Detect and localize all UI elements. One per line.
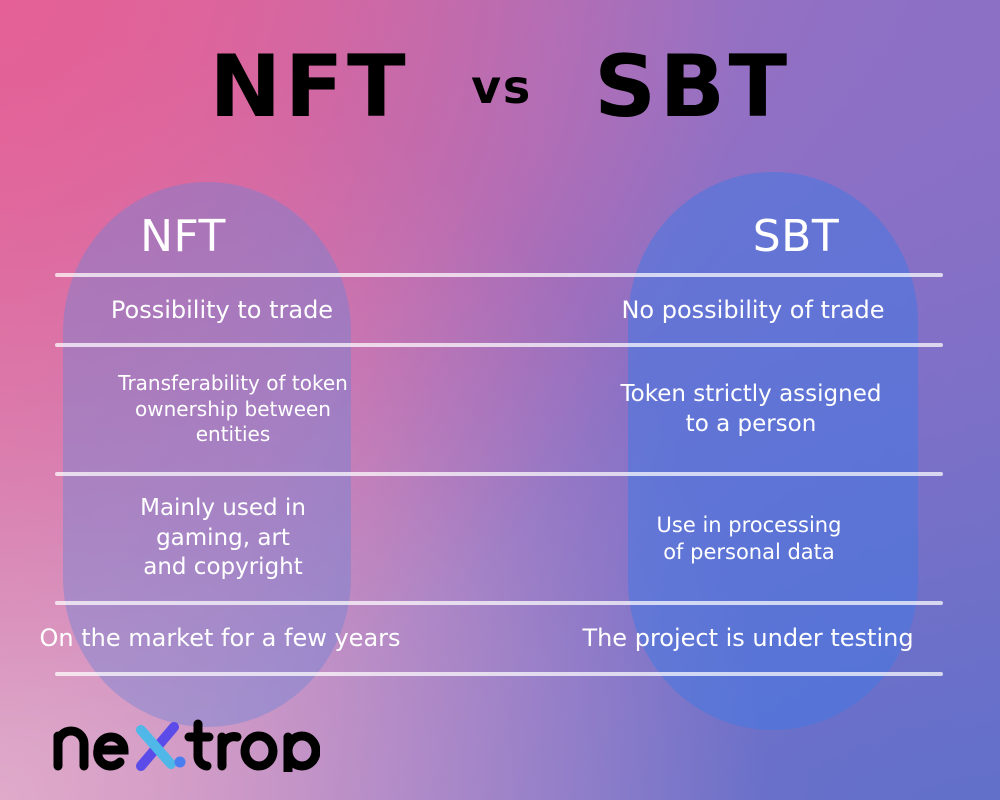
cell-nft-maturity: On the market for a few years <box>0 623 442 654</box>
table-header-row: NFT SBT <box>55 200 943 273</box>
cell-sbt-usage: Use in processing of personal data <box>527 512 971 566</box>
title-sbt-text: SBT <box>594 44 790 130</box>
poster-title: NFT vs SBT <box>0 44 1000 130</box>
column-header-sbt: SBT <box>499 200 943 273</box>
column-header-nft: NFT <box>55 200 499 273</box>
table-divider <box>55 672 943 676</box>
table-row: Mainly used in gaming, art and copyright… <box>55 476 943 601</box>
nextrope-logo <box>52 710 320 772</box>
comparison-table: NFT SBT Possibility to trade No possibil… <box>55 200 943 676</box>
cell-nft-trade: Possibility to trade <box>0 295 444 326</box>
cell-nft-usage: Mainly used in gaming, art and copyright <box>1 494 445 582</box>
cell-sbt-trade: No possibility of trade <box>531 295 975 326</box>
cell-sbt-maturity: The project is under testing <box>526 623 970 654</box>
logo-dot <box>175 757 186 768</box>
table-row: Transferability of token ownership betwe… <box>55 347 943 472</box>
table-row: Possibility to trade No possibility of t… <box>55 277 943 343</box>
table-row: On the market for a few years The projec… <box>55 605 943 672</box>
cell-nft-transferability: Transferability of token ownership betwe… <box>11 371 455 448</box>
title-nft-text: NFT <box>209 44 409 130</box>
infographic-poster: NFT vs SBT NFT SBT Possibility to trade … <box>0 0 1000 800</box>
nextrope-logo-mark <box>52 710 320 772</box>
cell-sbt-assignment: Token strictly assigned to a person <box>529 380 973 439</box>
title-vs-separator: vs <box>471 64 532 110</box>
